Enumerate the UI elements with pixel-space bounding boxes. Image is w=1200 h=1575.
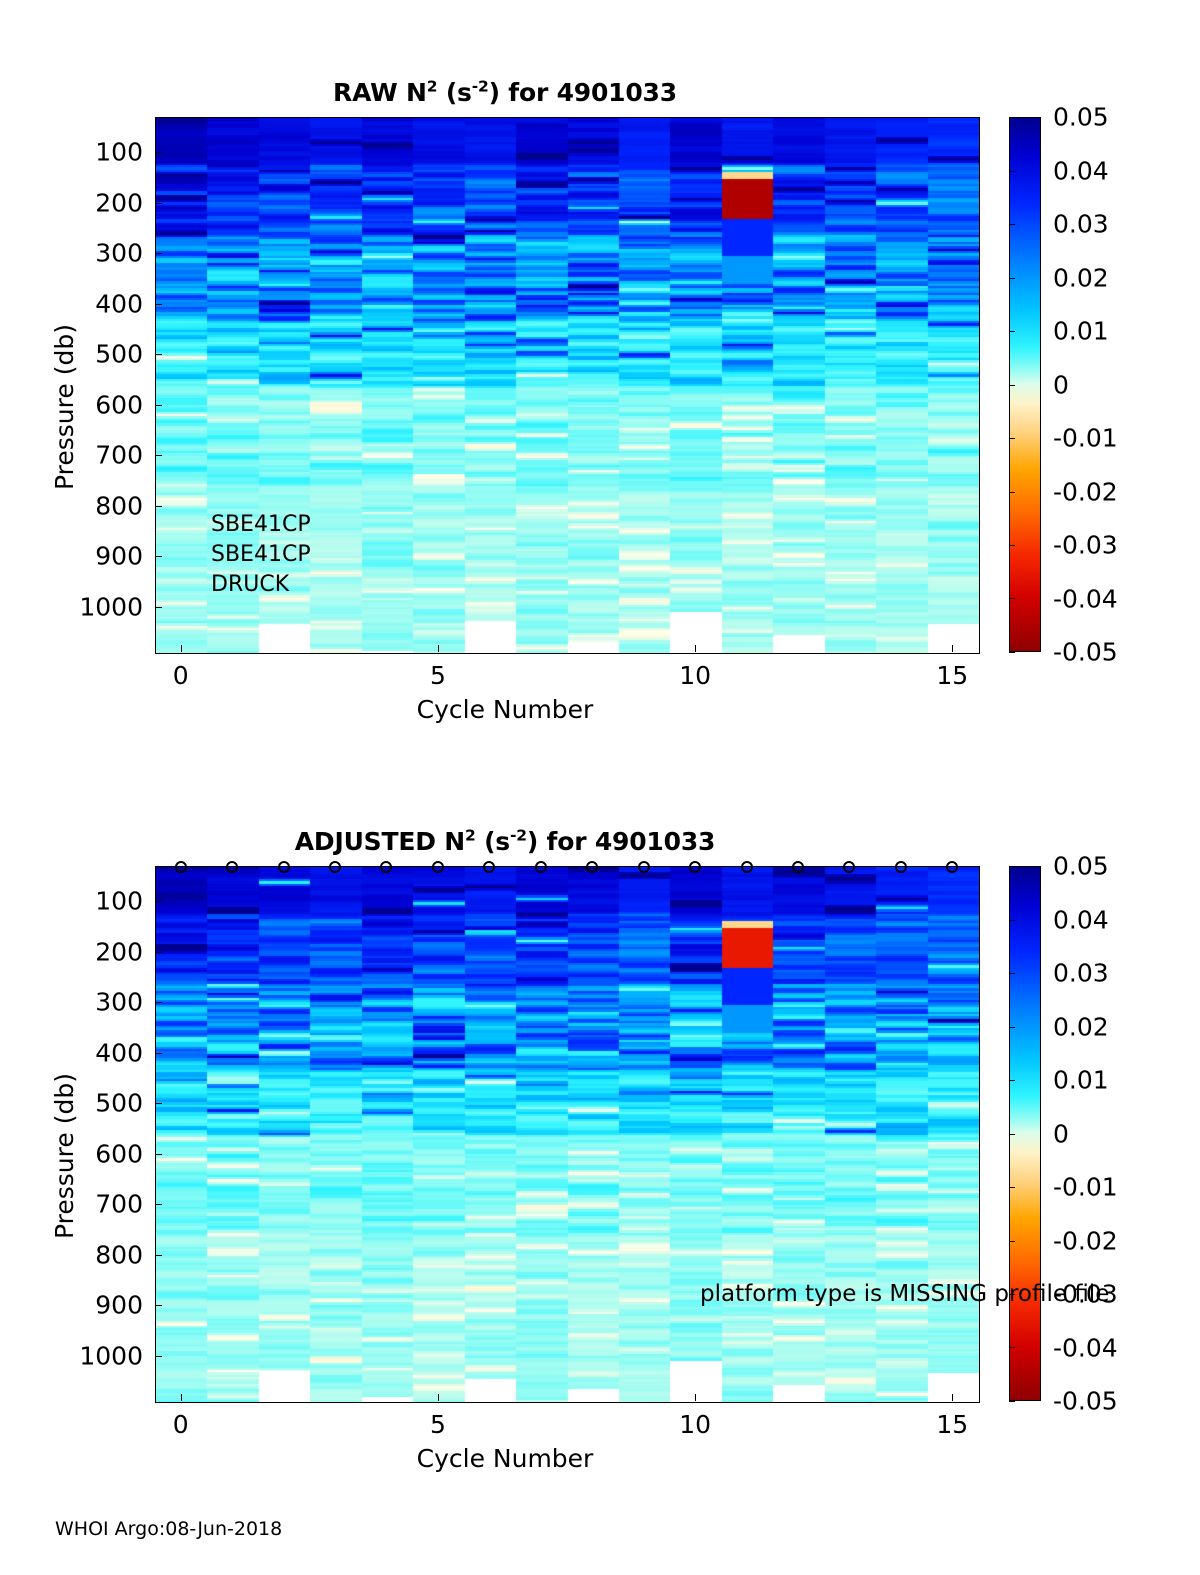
cycle-marker-circle	[175, 861, 187, 873]
y-tick-label: 1000	[0, 1341, 143, 1370]
colorbar-tick-label: 0.05	[1053, 852, 1109, 881]
y-tick-mark	[155, 1053, 162, 1054]
plot-title-adjusted-floatid: 4901033	[595, 827, 715, 856]
colorbar-tick-mark	[1009, 1401, 1015, 1402]
colorbar-tick-label: -0.02	[1053, 1226, 1118, 1255]
colorbar-tick-label: 0.01	[1053, 1066, 1109, 1095]
colorbar-tick-mark	[1009, 866, 1015, 867]
x-tick-label: 10	[679, 1410, 711, 1439]
cycle-marker-circle	[432, 861, 444, 873]
panel-adjusted: ADJUSTED N2 (s-2) for 4901033 platform t…	[0, 0, 1200, 1500]
cycle-marker-circle	[329, 861, 341, 873]
plot-title-adjusted-unit-exp: -2	[510, 827, 527, 845]
colorbar-tick-label: 0.02	[1053, 1012, 1109, 1041]
colorbar-tick-mark	[1009, 1134, 1015, 1135]
cycle-marker-circle	[380, 861, 392, 873]
y-tick-label: 200	[0, 937, 143, 966]
x-tick-label: 0	[173, 1410, 189, 1439]
cycle-marker-circle	[741, 861, 753, 873]
cycle-marker-circle	[483, 861, 495, 873]
footer-credit: WHOI Argo:08-Jun-2018	[55, 1518, 282, 1540]
cycle-marker-circle	[278, 861, 290, 873]
cycle-marker-circle	[895, 861, 907, 873]
y-tick-mark	[155, 1204, 162, 1205]
x-tick-label: 5	[430, 1410, 446, 1439]
colorbar-tick-mark	[1009, 1187, 1015, 1188]
plot-title-adjusted: ADJUSTED N2 (s-2) for 4901033	[0, 827, 1010, 856]
y-tick-label: 800	[0, 1240, 143, 1269]
y-tick-mark	[155, 1305, 162, 1306]
cycle-marker-circle	[792, 861, 804, 873]
y-tick-label: 300	[0, 988, 143, 1017]
y-tick-mark	[155, 901, 162, 902]
y-tick-label: 400	[0, 1038, 143, 1067]
colorbar-adjusted[interactable]: 0.050.040.030.020.010-0.01-0.02-0.03-0.0…	[1009, 866, 1041, 1401]
cycle-marker-circle	[638, 861, 650, 873]
colorbar-tick-label: -0.01	[1053, 1173, 1118, 1202]
platform-type-missing-note: platform type is MISSING profile file	[700, 1281, 1109, 1307]
colorbar-tick-mark	[1009, 1080, 1015, 1081]
colorbar-tick-mark	[1009, 920, 1015, 921]
x-tick-mark	[952, 1394, 953, 1401]
x-axis-label-adjusted: Cycle Number	[0, 1444, 1010, 1473]
y-tick-mark	[155, 952, 162, 953]
x-tick-mark	[695, 1394, 696, 1401]
plot-title-adjusted-unit-close: ) for	[527, 827, 595, 856]
colorbar-tick-label: -0.04	[1053, 1333, 1118, 1362]
colorbar-tick-label: -0.05	[1053, 1387, 1118, 1416]
cycle-marker-circle	[226, 861, 238, 873]
y-tick-mark	[155, 1356, 162, 1357]
colorbar-tick-mark	[1009, 973, 1015, 974]
x-tick-mark	[438, 1394, 439, 1401]
heatmap-image-adjusted	[156, 867, 979, 1402]
y-tick-label: 100	[0, 887, 143, 916]
y-tick-mark	[155, 1002, 162, 1003]
y-tick-mark	[155, 1154, 162, 1155]
cycle-marker-circle	[843, 861, 855, 873]
heatmap-axes-adjusted[interactable]	[155, 866, 980, 1403]
y-tick-mark	[155, 1103, 162, 1104]
colorbar-tick-mark	[1009, 1027, 1015, 1028]
plot-title-adjusted-exp: 2	[465, 827, 476, 845]
y-tick-label: 900	[0, 1291, 143, 1320]
plot-title-adjusted-prefix: ADJUSTED N	[295, 827, 465, 856]
plot-title-adjusted-unit-open: (s	[476, 827, 510, 856]
colorbar-tick-label: 0	[1053, 1119, 1069, 1148]
colorbar-tick-mark	[1009, 1347, 1015, 1348]
cycle-marker-circle	[689, 861, 701, 873]
colorbar-tick-mark	[1009, 1241, 1015, 1242]
colorbar-tick-label: 0.04	[1053, 905, 1109, 934]
y-tick-mark	[155, 1255, 162, 1256]
y-axis-label-adjusted: Pressure (db)	[50, 1073, 79, 1239]
cycle-marker-circle	[586, 861, 598, 873]
colorbar-tick-label: 0.03	[1053, 959, 1109, 988]
x-tick-label: 15	[936, 1410, 968, 1439]
cycle-marker-circle	[535, 861, 547, 873]
cycle-marker-circle	[946, 861, 958, 873]
x-tick-mark	[181, 1394, 182, 1401]
